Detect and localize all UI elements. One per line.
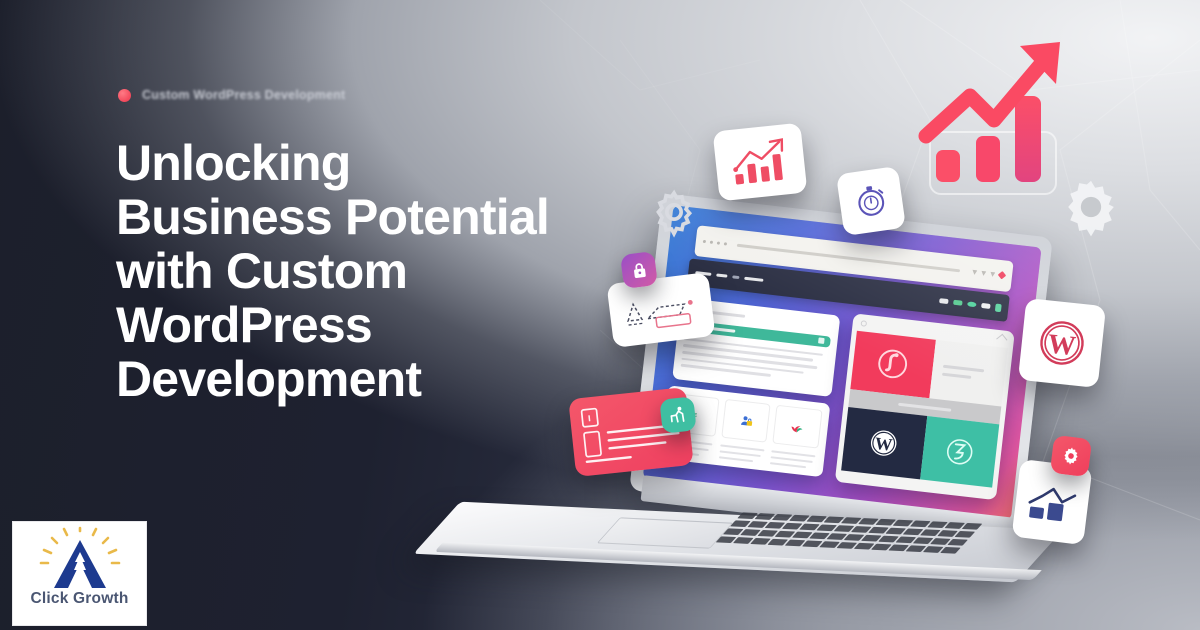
wordpress-cell: W [841,407,927,479]
nav-chip[interactable] [953,300,963,306]
bar-chart-arrow-icon [727,135,794,189]
nav-chip[interactable] [939,298,949,304]
search-input[interactable] [737,244,961,273]
user-lock-icon[interactable] [721,399,771,443]
line-bar-chart-icon [1023,476,1080,528]
settings-badge[interactable] [1050,435,1092,477]
nav-chip[interactable] [995,303,1002,312]
joomla-icon [870,342,914,386]
nav-item[interactable] [716,274,727,278]
gear-icon [1058,174,1124,240]
preview-text-cell [929,339,1009,406]
svg-text:W: W [874,433,894,455]
text-row [684,338,823,356]
text-row [720,444,764,451]
nav-chip[interactable] [981,303,991,309]
security-badge[interactable] [620,251,658,289]
text-row [772,450,816,457]
logo[interactable]: Click Growth [12,521,147,626]
browser-dot-icon [710,240,713,243]
chevron-down-icon[interactable] [972,270,978,276]
preview-window-card: W [834,313,1015,500]
wireframe-sketch-card[interactable] [606,272,715,348]
stopwatch-icon [850,180,893,223]
dot-marker-icon [118,89,131,102]
laravel-cell [920,416,1000,487]
text-rows [681,338,828,383]
text-row [683,344,813,361]
svg-text:W: W [1046,328,1077,362]
gear-icon [1060,445,1082,467]
browser-url-bar[interactable] [694,225,1014,293]
browser-dot-icon [717,241,720,244]
browser-dot-icon [703,240,706,243]
person-activity-icon [667,404,689,426]
text-row [942,372,972,378]
edit-icon[interactable] [818,338,825,345]
text-row [681,364,771,377]
laptop-screen: ≡ [643,205,1042,520]
person-badge[interactable] [659,396,696,433]
joomla-cell [850,330,936,398]
leaf-icon[interactable] [773,405,823,449]
browser-dot-icon [724,242,727,245]
eyebrow-label: Custom WordPress Development [142,88,345,102]
wordpress-icon: W [1030,311,1094,375]
text-row [682,357,803,374]
preview-window-titlebar [856,318,1009,347]
logo-mark [34,526,126,592]
text-row [770,462,806,468]
wireframe-sketch-icon [617,282,706,338]
arrow-a-sunburst-icon [34,526,126,592]
hero-banner: Custom WordPress Development Unlocking B… [0,0,1200,630]
text-row [771,456,813,463]
gear-icon [648,186,700,238]
preview-divider-strip [848,389,1002,425]
chevron-down-icon[interactable] [981,271,987,277]
wordpress-icon: W [863,422,905,464]
chevron-up-icon[interactable] [997,333,1008,344]
text-row [942,364,984,372]
site-navigation-bar[interactable] [687,258,1010,322]
timer-card[interactable] [836,166,906,236]
text-row [719,456,753,462]
nav-chip[interactable] [967,301,977,307]
wordpress-card[interactable]: W [1018,298,1106,388]
nav-item[interactable] [732,275,739,279]
laptop-illustration: ≡ [418,214,1058,584]
growth-chart-card[interactable] [713,123,808,202]
eyebrow: Custom WordPress Development [118,88,345,102]
circle-icon [860,320,867,327]
laravel-icon [939,431,981,473]
lock-icon [628,259,649,280]
nav-item[interactable] [744,277,763,282]
laptop-base [424,506,1052,584]
big-growth-chart-icon [908,28,1080,218]
laptop-trackpad[interactable] [597,517,734,548]
text-row [720,450,761,457]
close-icon[interactable] [998,271,1006,279]
logo-text: Click Growth [31,590,129,608]
headline-line-1: Unlocking [116,136,616,190]
chevron-down-icon[interactable] [990,272,996,278]
text-row [683,351,817,369]
text-row [898,402,951,411]
